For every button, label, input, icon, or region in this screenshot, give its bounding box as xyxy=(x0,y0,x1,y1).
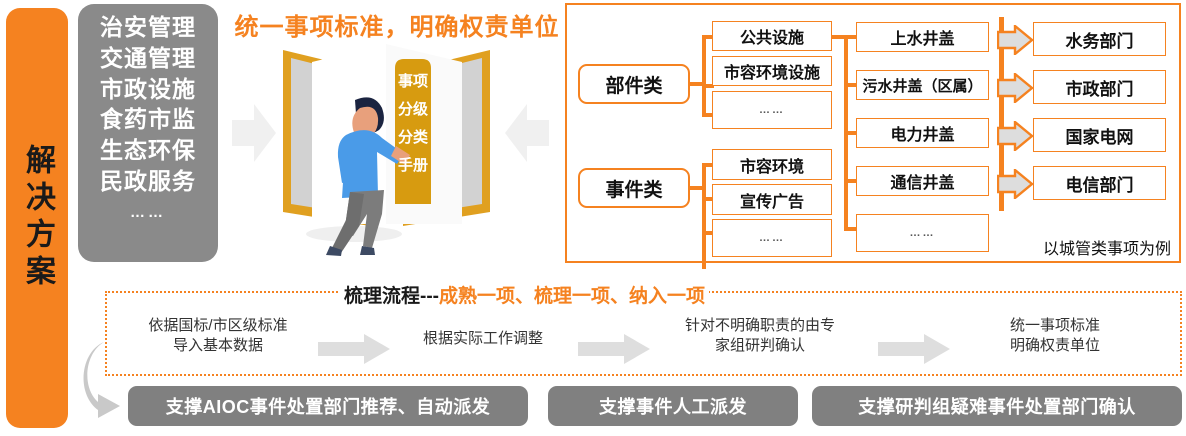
process-title-plain: 梳理流程--- xyxy=(344,286,439,307)
process-title-highlight: 成熟一项、梳理一项、纳入一项 xyxy=(439,286,705,307)
domain-item-5: 民政服务 xyxy=(100,166,196,197)
process-step-1-line1: 根据实际工作调整 xyxy=(388,329,578,349)
subcategory-box-4[interactable]: 宣传广告 xyxy=(712,184,832,215)
process-step-3: 统一事项标准 明确权责单位 xyxy=(960,316,1150,357)
domain-list-panel: 治安管理 交通管理 市政设施 食药市监 生态环保 民政服务 …… xyxy=(78,4,218,262)
item-box-0[interactable]: 上水井盖 xyxy=(856,22,989,52)
support-pill-1[interactable]: 支撑事件人工派发 xyxy=(548,386,798,426)
item-box-1[interactable]: 污水井盖（区属） xyxy=(856,70,989,100)
department-box-0[interactable]: 水务部门 xyxy=(1033,22,1166,56)
svg-text:手册: 手册 xyxy=(398,156,428,174)
subcategory-ellipsis: …… xyxy=(759,104,785,116)
department-box-3[interactable]: 电信部门 xyxy=(1033,166,1166,200)
flow-arrow-icon-0 xyxy=(997,25,1033,55)
domain-item-0: 治安管理 xyxy=(100,12,196,43)
subcategory-box-1[interactable]: 市容环境设施 xyxy=(712,56,832,86)
subcategory-box-2[interactable]: …… xyxy=(712,91,832,129)
category-box-component[interactable]: 部件类 xyxy=(578,64,690,104)
diagram-note: 以城管类事项为例 xyxy=(1043,235,1171,259)
subcategory-box-5[interactable]: …… xyxy=(712,219,832,257)
process-step-0-line2: 导入基本数据 xyxy=(113,336,323,356)
subcategory-box-3[interactable]: 市容环境 xyxy=(712,149,832,180)
solution-banner: 解决方案 xyxy=(6,8,68,428)
svg-text:分类: 分类 xyxy=(398,128,429,146)
arrow-left-icon xyxy=(505,104,549,162)
item-box-2[interactable]: 电力井盖 xyxy=(856,118,989,148)
domain-item-ellipsis: …… xyxy=(130,203,166,223)
domain-item-4: 生态环保 xyxy=(100,135,196,166)
classification-diagram: 部件类 事件类 公共设施 市容环境设施 …… 市容环境 宣传广告 …… 上水井盖… xyxy=(565,3,1181,263)
domain-item-3: 食药市监 xyxy=(100,104,196,135)
process-step-3-line2: 明确权责单位 xyxy=(960,336,1150,356)
department-box-2[interactable]: 国家电网 xyxy=(1033,118,1166,152)
department-box-1[interactable]: 市政部门 xyxy=(1033,70,1166,104)
process-step-2-line1: 针对不明确职责的由专 xyxy=(650,316,870,336)
process-arrow-icon-2 xyxy=(878,334,950,364)
solution-banner-label: 解决方案 xyxy=(22,144,52,292)
process-flow-title: 梳理流程---成熟一项、梳理一项、纳入一项 xyxy=(340,281,709,308)
connector-line xyxy=(702,163,706,269)
flow-arrow-icon-1 xyxy=(997,73,1033,103)
arrow-right-icon xyxy=(232,104,276,162)
support-pill-2[interactable]: 支撑研判组疑难事件处置部门确认 xyxy=(812,386,1182,426)
process-step-3-line1: 统一事项标准 xyxy=(960,316,1150,336)
domain-item-2: 市政设施 xyxy=(100,74,196,105)
book-icon xyxy=(283,44,490,226)
subcategory-ellipsis: …… xyxy=(759,232,785,244)
domain-item-1: 交通管理 xyxy=(100,43,196,74)
process-arrow-icon-0 xyxy=(318,334,390,364)
item-ellipsis: …… xyxy=(910,227,936,239)
handbook-illustration: 事项 分级 分类 手册 xyxy=(272,34,502,264)
process-step-2: 针对不明确职责的由专 家组研判确认 xyxy=(650,316,870,357)
support-pill-0[interactable]: 支撑AIOC事件处置部门推荐、自动派发 xyxy=(128,386,528,426)
svg-text:分级: 分级 xyxy=(398,100,429,118)
flow-arrow-icon-2 xyxy=(997,121,1033,151)
item-box-4[interactable]: …… xyxy=(856,214,989,252)
item-box-3[interactable]: 通信井盖 xyxy=(856,166,989,196)
process-step-0: 依据国标/市区级标准 导入基本数据 xyxy=(113,316,323,357)
process-step-0-line1: 依据国标/市区级标准 xyxy=(113,316,323,336)
svg-text:事项: 事项 xyxy=(398,72,428,90)
flow-arrow-icon-3 xyxy=(997,169,1033,199)
process-step-1: 根据实际工作调整 xyxy=(388,329,578,349)
process-arrow-icon-1 xyxy=(578,334,650,364)
subcategory-box-0[interactable]: 公共设施 xyxy=(712,21,832,51)
connector-line xyxy=(702,35,706,117)
process-step-2-line2: 家组研判确认 xyxy=(650,336,870,356)
category-box-event[interactable]: 事件类 xyxy=(578,168,690,208)
